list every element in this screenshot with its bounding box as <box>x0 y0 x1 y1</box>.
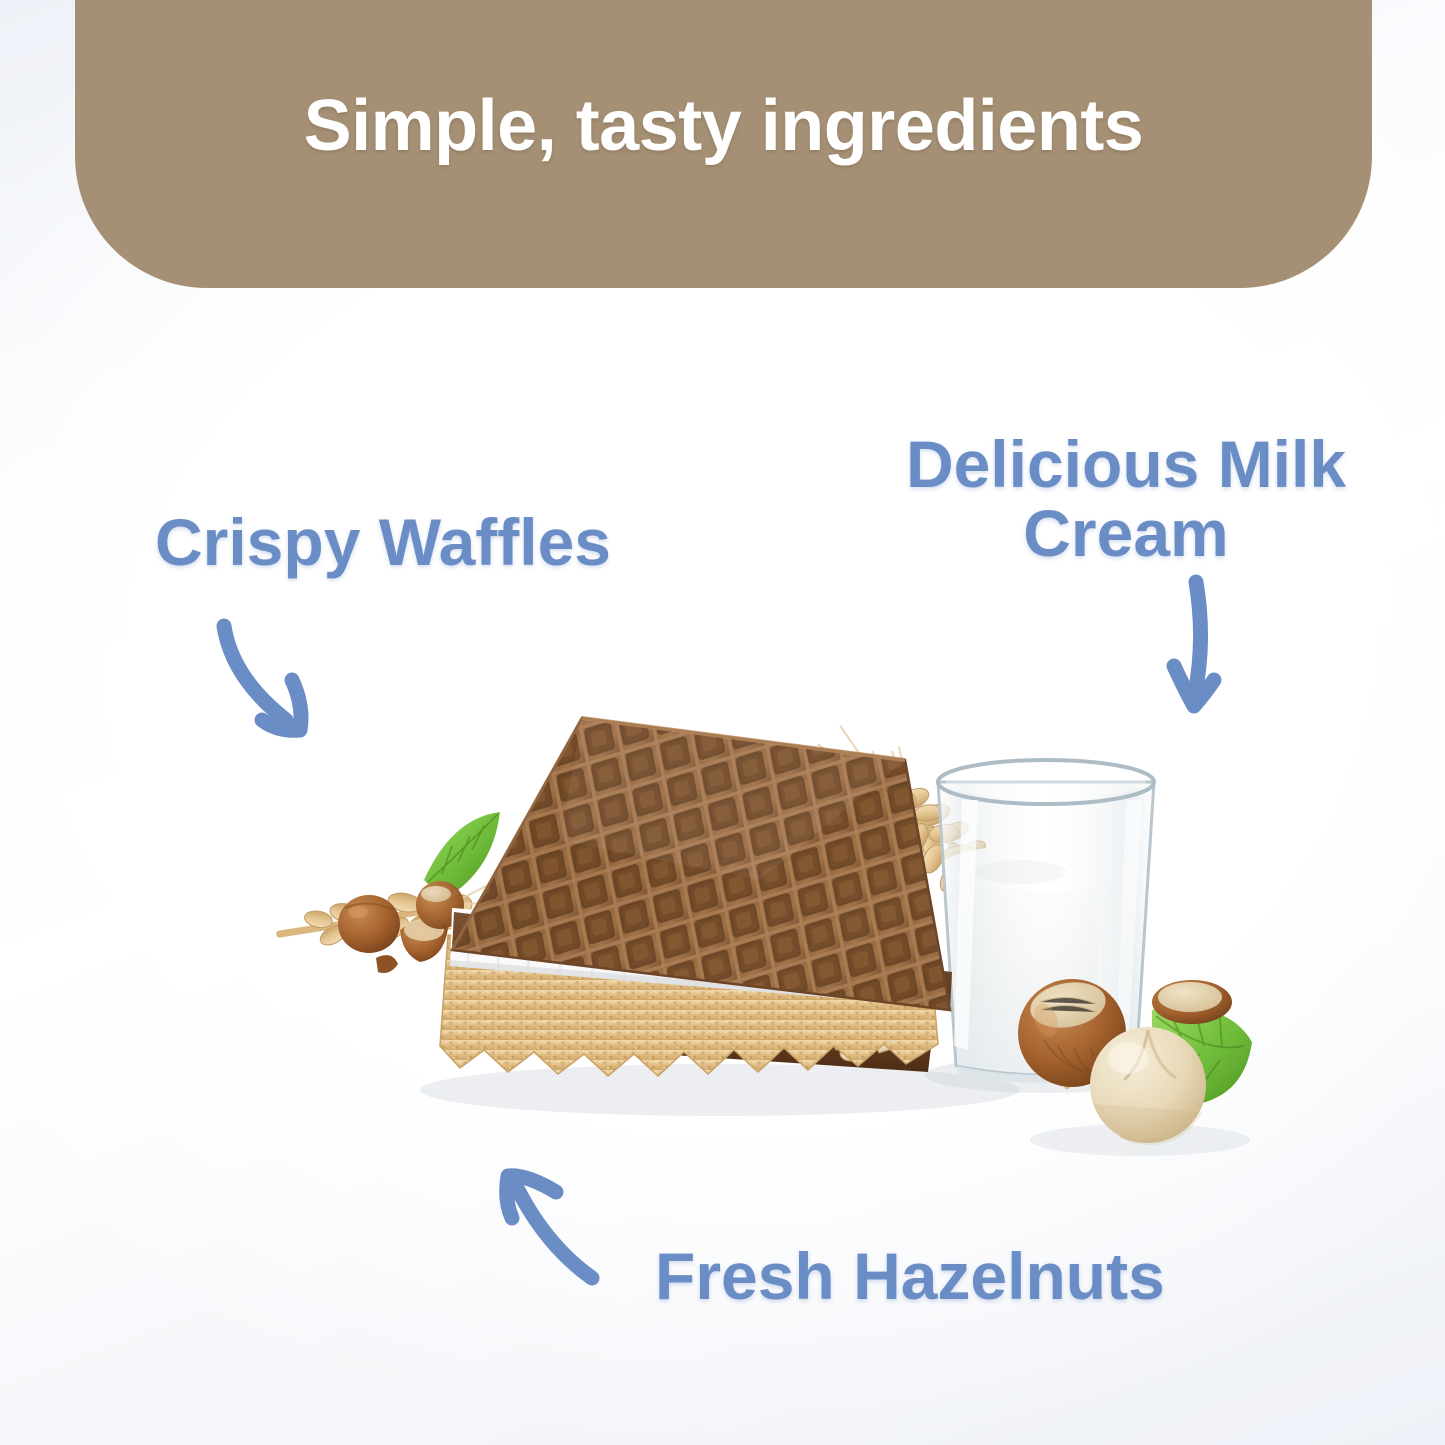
hazelnut-leaf-left <box>424 812 500 892</box>
callout-line-2: Cream <box>866 499 1386 568</box>
curved-arrow-up-left-icon <box>478 1148 658 1308</box>
infographic-canvas: Simple, tasty ingredients <box>0 0 1445 1445</box>
chocolate-hazelnut-wafer <box>430 700 990 1076</box>
curved-arrow-down-right-icon <box>190 608 370 758</box>
callout-line-1: Delicious Milk <box>866 430 1386 499</box>
arrow-down-icon <box>1158 566 1318 726</box>
callout-label-delicious-milk-cream: Delicious Milk Cream <box>866 430 1386 567</box>
callout-label-fresh-hazelnuts: Fresh Hazelnuts <box>655 1242 1165 1311</box>
callout-label-crispy-waffles: Crispy Waffles <box>155 508 611 577</box>
